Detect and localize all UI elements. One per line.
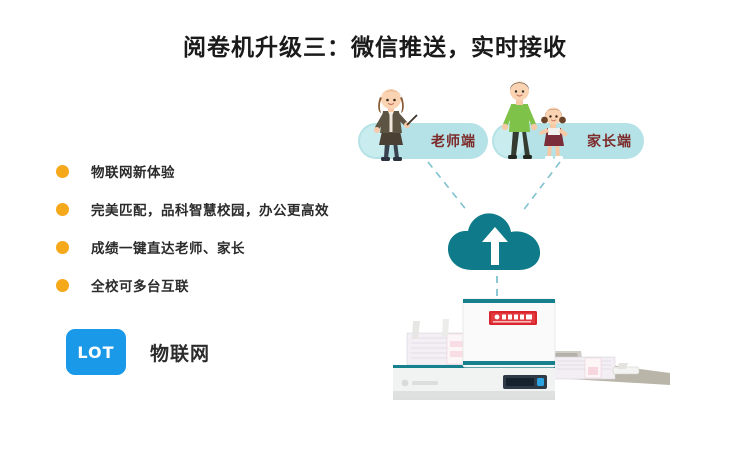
endpoint-teacher-label: 老师端 xyxy=(431,131,476,151)
slide-root: 阅卷机升级三：微信推送，实时接收 物联网新体验 完美匹配，品科智慧校园，办公更高… xyxy=(0,0,750,450)
list-item-label: 物联网新体验 xyxy=(91,161,175,181)
bullet-dot-icon xyxy=(56,165,69,178)
omr-scanner xyxy=(385,295,675,410)
list-item-label: 成绩一键直达老师、家长 xyxy=(91,237,245,257)
list-item: 物联网新体验 xyxy=(56,152,356,190)
iot-badge-caption: 物联网 xyxy=(150,339,210,366)
teacher-person-icon xyxy=(362,85,418,163)
feature-list: 物联网新体验 完美匹配，品科智慧校园，办公更高效 成绩一键直达老师、家长 全校可… xyxy=(56,152,356,304)
page-title: 阅卷机升级三：微信推送，实时接收 xyxy=(0,28,750,62)
iot-architecture-diagram: 老师端 xyxy=(340,80,740,420)
endpoint-parent-label: 家长端 xyxy=(587,131,632,151)
cloud-upload-icon xyxy=(445,205,550,275)
bullet-dot-icon xyxy=(56,203,69,216)
iot-badge-group: LOT 物联网 xyxy=(66,329,210,375)
bullet-dot-icon xyxy=(56,241,69,254)
list-item-label: 完美匹配，品科智慧校园，办公更高效 xyxy=(91,199,329,219)
list-item: 完美匹配，品科智慧校园，办公更高效 xyxy=(56,190,356,228)
iot-badge: LOT xyxy=(66,329,126,375)
bullet-dot-icon xyxy=(56,279,69,292)
list-item: 全校可多台互联 xyxy=(56,266,356,304)
list-item-label: 全校可多台互联 xyxy=(91,275,189,295)
list-item: 成绩一键直达老师、家长 xyxy=(56,228,356,266)
parent-child-person-icon xyxy=(495,80,575,163)
